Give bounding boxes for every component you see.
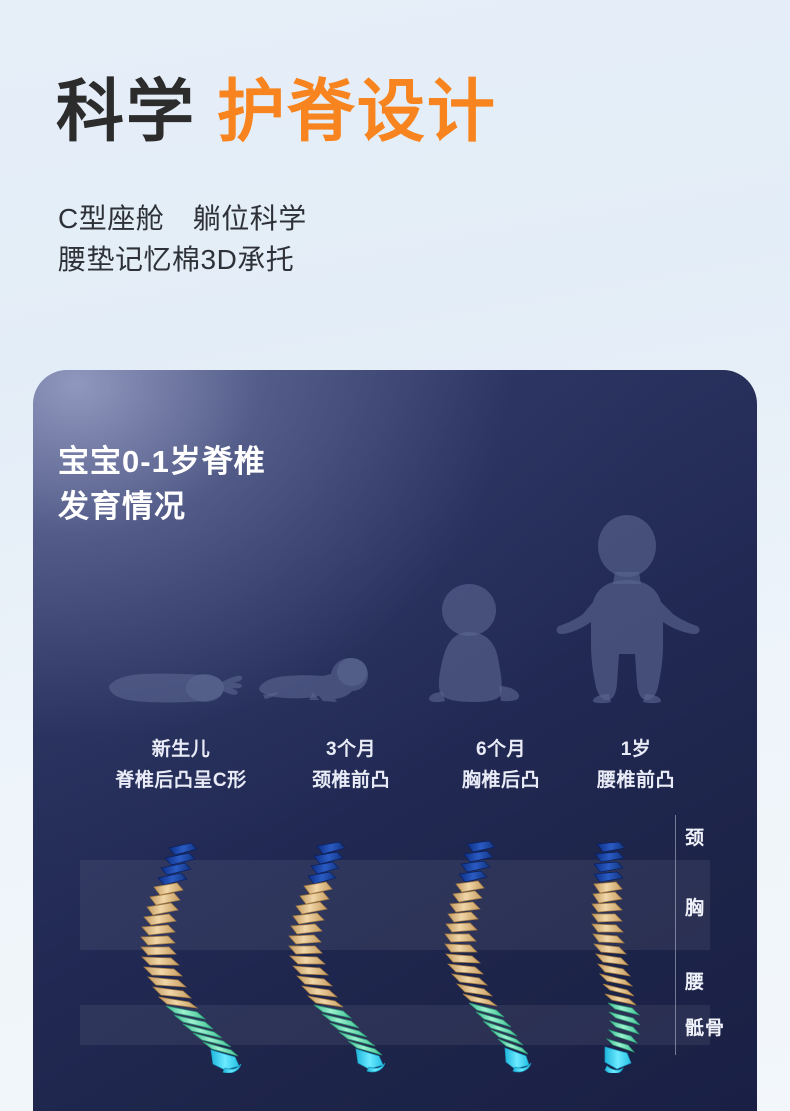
spine-illustration-6-months	[417, 838, 535, 1073]
page-title: 科学 护脊设计	[56, 78, 497, 146]
spine-comparison-chart: 颈 胸 腰 骶骨	[33, 825, 757, 1065]
spine-development-card: 宝宝0-1岁脊椎 发育情况	[33, 370, 757, 1111]
growth-silhouettes-row	[33, 510, 757, 700]
spine-illustration-3-months	[271, 838, 389, 1073]
page-title-part-1: 科学	[56, 74, 196, 150]
region-label-cervical: 颈	[685, 823, 755, 850]
lying-newborn-silhouette	[101, 652, 251, 704]
stage-age: 1岁	[546, 735, 726, 766]
stage-age: 新生儿	[91, 735, 271, 766]
prone-baby-silhouette	[253, 642, 383, 704]
stage-desc: 腰椎前凸	[546, 766, 726, 797]
region-label-thoracic: 胸	[685, 893, 755, 920]
spine-illustration-1-year	[563, 838, 681, 1073]
standing-toddler-silhouette	[553, 514, 701, 704]
sitting-baby-silhouette	[423, 582, 527, 704]
region-label-lumbar: 腰	[685, 967, 755, 994]
region-labels: 颈 胸 腰 骶骨	[685, 815, 755, 1055]
spine-illustration-newborn	[125, 838, 243, 1073]
product-detail-page: 科学 护脊设计 C型座舱 躺位科学 腰垫记忆棉3D承托 宝宝0-1岁脊椎 发育情…	[0, 0, 790, 1111]
region-label-sacrum: 骶骨	[685, 1013, 755, 1040]
stage-label-newborn: 新生儿 脊椎后凸呈C形	[91, 735, 271, 797]
stage-label-1-year: 1岁 腰椎前凸	[546, 735, 726, 797]
stage-desc: 脊椎后凸呈C形	[91, 766, 271, 797]
page-title-part-2: 护脊设计	[217, 74, 497, 150]
page-subtitle: C型座舱 躺位科学 腰垫记忆棉3D承托	[58, 198, 307, 281]
stage-labels-row: 新生儿 脊椎后凸呈C形 3个月 颈椎前凸 6个月 胸椎后凸 1岁 腰椎前凸	[33, 735, 757, 805]
